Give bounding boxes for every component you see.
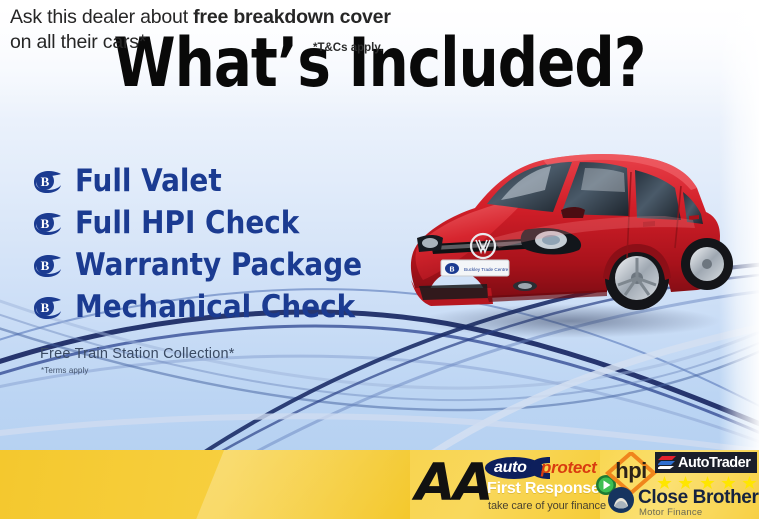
banner-terms: *T&Cs apply. [313, 42, 383, 54]
feature-label: Warranty Package [75, 250, 362, 281]
svg-text:B: B [41, 216, 50, 231]
list-item: B Full HPI Check [32, 202, 412, 244]
autotrader-stripes-icon [658, 456, 676, 469]
b-logo-icon: B [32, 294, 62, 320]
first-response-title: First Response [487, 480, 600, 498]
list-item: B Full Valet [32, 160, 412, 202]
terms-note: *Terms apply [41, 366, 88, 375]
message-part-1: Ask this dealer about [10, 6, 193, 28]
car-image-red-vw-polo: B Buckley Trade Centre [375, 138, 753, 353]
autotrader-wordmark: AutoTrader [678, 455, 750, 471]
svg-text:B: B [41, 300, 50, 315]
svg-text:B: B [41, 174, 50, 189]
b-logo-icon: B [32, 252, 62, 278]
b-logo-icon: B [32, 168, 62, 194]
hpi-wordmark: hpi [604, 458, 658, 484]
svg-text:B: B [449, 267, 454, 274]
autoprotect-word-protect: protect [541, 458, 597, 478]
feature-label: Full HPI Check [75, 208, 299, 239]
list-item: B Mechanical Check [32, 286, 412, 328]
list-item: B Warranty Package [32, 244, 412, 286]
close-brothers-logo: Close Brothers Motor Finance [608, 487, 758, 517]
autoprotect-word-auto: auto [494, 459, 527, 477]
autoprotect-logo: auto protect [484, 456, 604, 480]
banner-left-panel [0, 450, 410, 519]
advert-poster: B Buckley Trade Centre [0, 0, 759, 519]
feature-label: Full Valet [75, 166, 222, 197]
close-brothers-circle-icon [608, 487, 634, 513]
svg-text:Buckley Trade Centre: Buckley Trade Centre [464, 267, 509, 272]
feature-label: Mechanical Check [75, 292, 355, 323]
message-bold: free breakdown cover [193, 6, 391, 28]
close-brothers-name: Close Brothers [638, 487, 759, 509]
feature-list: B Full Valet B Full HPI Check B [32, 160, 412, 328]
svg-text:B: B [41, 258, 50, 273]
autotrader-logo: AutoTrader [655, 452, 757, 473]
close-brothers-sub: Motor Finance [639, 507, 702, 518]
first-response-tagline: take care of your finance [488, 500, 606, 512]
collection-note: Free Train Station Collection* [40, 346, 235, 362]
message-part-2: on all their cars* [10, 31, 146, 53]
aa-logo: AA [415, 455, 492, 511]
b-logo-icon: B [32, 210, 62, 236]
